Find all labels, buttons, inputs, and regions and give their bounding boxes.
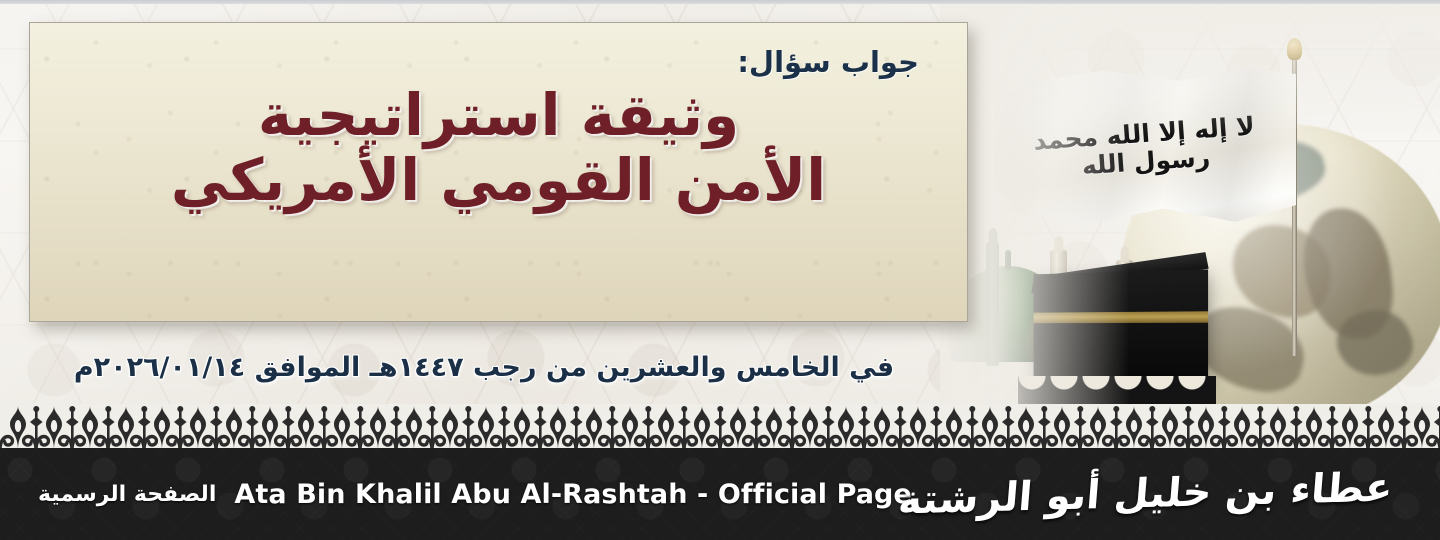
page-name-english: Ata Bin Khalil Abu Al-Rashtah - Official… xyxy=(234,479,912,510)
footer-right-group: عطاء بن خليل أبو الرشتة xyxy=(899,448,1392,540)
ornamental-divider xyxy=(0,404,1440,450)
footer-bar: الصفحة الرسمية Ata Bin Khalil Abu Al-Ras… xyxy=(0,448,1440,540)
author-calligraphy: عطاء بن خليل أبو الرشتة xyxy=(897,465,1395,524)
page-name-arabic: الصفحة الرسمية xyxy=(38,482,216,507)
title-panel-content: جواب سؤال: وثيقة استراتيجية الأمن القومي… xyxy=(30,23,967,321)
page-title: وثيقة استراتيجية الأمن القومي الأمريكي xyxy=(74,83,923,213)
page-title-line-2: الأمن القومي الأمريكي xyxy=(74,148,923,213)
montage-top-fade xyxy=(940,4,1440,134)
dateline: في الخامس والعشرين من رجب ١٤٤٧هـ الموافق… xyxy=(0,352,968,383)
photo-montage: لا إله إلا الله محمد رسول الله xyxy=(940,4,1440,418)
footer-left-group: الصفحة الرسمية Ata Bin Khalil Abu Al-Ras… xyxy=(38,448,912,540)
kicker-label: جواب سؤال: xyxy=(74,45,919,79)
banner-image: لا إله إلا الله محمد رسول الله جواب سؤال… xyxy=(0,0,1440,540)
title-panel: جواب سؤال: وثيقة استراتيجية الأمن القومي… xyxy=(29,22,968,322)
page-title-line-1: وثيقة استراتيجية xyxy=(74,83,923,148)
